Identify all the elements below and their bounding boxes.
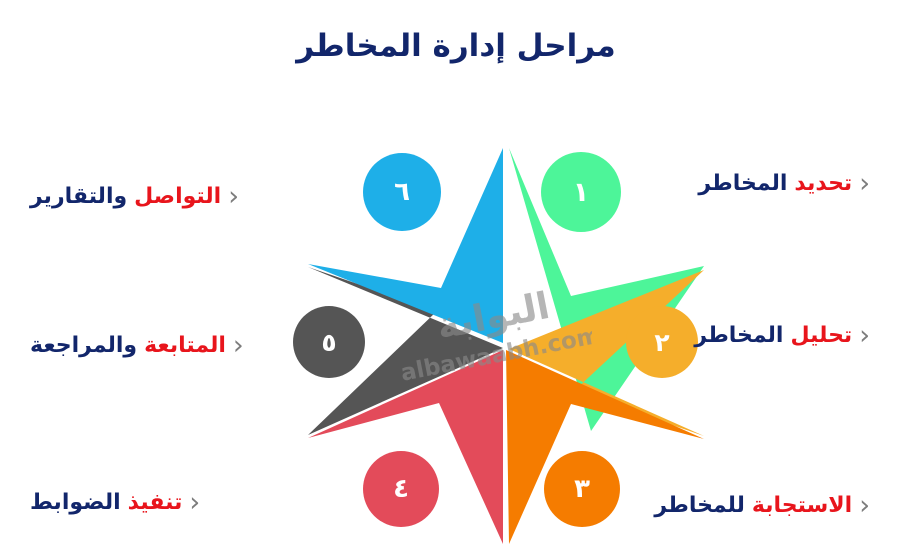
stage-label-2-primary: تحليل xyxy=(790,323,852,348)
chevron-left-icon-3: ‹ xyxy=(859,492,870,519)
chevron-left-icon-5: ‹ xyxy=(233,332,244,359)
stage-label-4[interactable]: ‹ تنفيذ الضوابط xyxy=(30,489,288,516)
page-title: مراحل إدارة المخاطر xyxy=(0,28,912,64)
stage-label-6-secondary: والتقارير xyxy=(30,184,127,209)
stage-label-1-primary: تحديد xyxy=(794,171,852,196)
chevron-left-icon-2: ‹ xyxy=(859,322,870,349)
chevron-left-icon-1: ‹ xyxy=(859,170,870,197)
stage-label-5[interactable]: ‹ المتابعة والمراجعة xyxy=(30,332,288,359)
stage-label-3-primary: الاستجابة xyxy=(752,493,852,518)
stage-label-5-primary: المتابعة xyxy=(144,333,226,358)
stage-label-1[interactable]: ‹ تحديد المخاطر xyxy=(636,170,884,197)
stage-label-2[interactable]: ‹ تحليل المخاطر xyxy=(636,322,884,349)
stage-label-6[interactable]: ‹ التواصل والتقارير xyxy=(30,183,288,210)
stage-badge-3[interactable]: ٣ xyxy=(544,451,620,527)
chevron-left-icon-6: ‹ xyxy=(228,183,239,210)
stage-badge-6-number: ٦ xyxy=(394,179,410,205)
stage-label-5-secondary: والمراجعة xyxy=(30,333,137,358)
stage-badge-3-number: ٣ xyxy=(574,476,590,502)
stage-badge-1-number: ١ xyxy=(573,179,589,206)
stage-label-4-primary: تنفيذ xyxy=(128,490,183,515)
stage-label-3-secondary: للمخاطر xyxy=(654,493,745,518)
stage-label-6-primary: التواصل xyxy=(134,184,221,209)
chevron-left-icon-4: ‹ xyxy=(189,489,200,516)
stage-label-1-secondary: المخاطر xyxy=(698,171,787,196)
stage-badge-5-number: ٥ xyxy=(321,330,336,355)
stage-badge-1[interactable]: ١ xyxy=(541,152,621,232)
stage-label-4-secondary: الضوابط xyxy=(30,490,121,515)
stage-label-3[interactable]: ‹ الاستجابة للمخاطر xyxy=(636,492,884,519)
stage-badge-4-number: ٤ xyxy=(393,476,409,502)
stage-badge-5[interactable]: ٥ xyxy=(293,306,365,378)
stage-badge-4[interactable]: ٤ xyxy=(363,451,439,527)
stage-label-2-secondary: المخاطر xyxy=(694,323,783,348)
stage-badge-6[interactable]: ٦ xyxy=(363,153,441,231)
